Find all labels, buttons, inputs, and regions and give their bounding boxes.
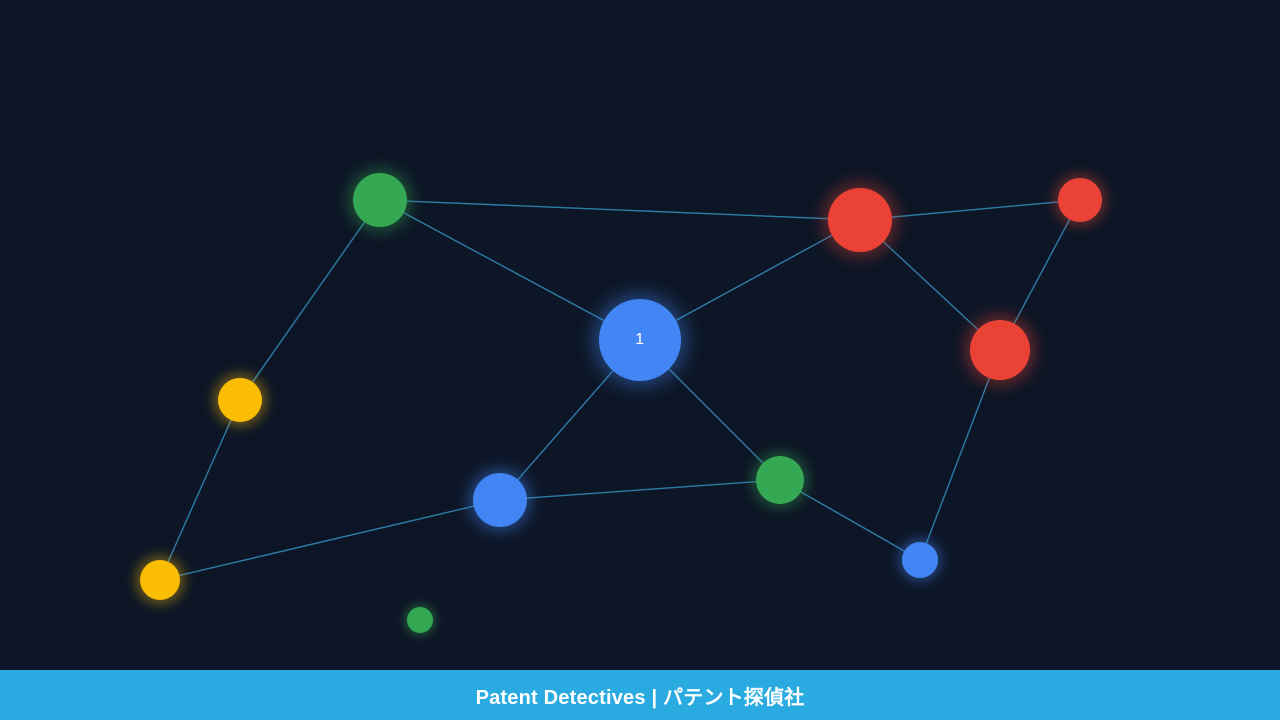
graph-edge bbox=[920, 350, 1000, 560]
graph-node[interactable] bbox=[473, 473, 527, 527]
graph-edge bbox=[160, 400, 240, 580]
footer-title: Patent Detectives | パテント探偵社 bbox=[476, 681, 805, 710]
graph-canvas[interactable]: 1 bbox=[0, 0, 1280, 670]
network-graph-app: 1 Patent Detectives | パテント探偵社 bbox=[0, 0, 1280, 720]
graph-node[interactable] bbox=[902, 542, 938, 578]
graph-node-label: 1 bbox=[635, 332, 644, 348]
graph-node[interactable] bbox=[1058, 178, 1102, 222]
graph-edge bbox=[160, 500, 500, 580]
graph-node[interactable]: 1 bbox=[599, 299, 681, 381]
graph-edge bbox=[500, 480, 780, 500]
graph-node[interactable] bbox=[407, 607, 433, 633]
footer-bar: Patent Detectives | パテント探偵社 bbox=[0, 670, 1280, 720]
graph-edge bbox=[860, 200, 1080, 220]
graph-edge bbox=[240, 200, 380, 400]
graph-edge bbox=[380, 200, 640, 340]
graph-node[interactable] bbox=[218, 378, 262, 422]
graph-edge bbox=[380, 200, 860, 220]
graph-node[interactable] bbox=[756, 456, 804, 504]
graph-node[interactable] bbox=[140, 560, 180, 600]
graph-edge bbox=[780, 480, 920, 560]
graph-node[interactable] bbox=[970, 320, 1030, 380]
graph-node[interactable] bbox=[353, 173, 407, 227]
graph-node[interactable] bbox=[828, 188, 892, 252]
